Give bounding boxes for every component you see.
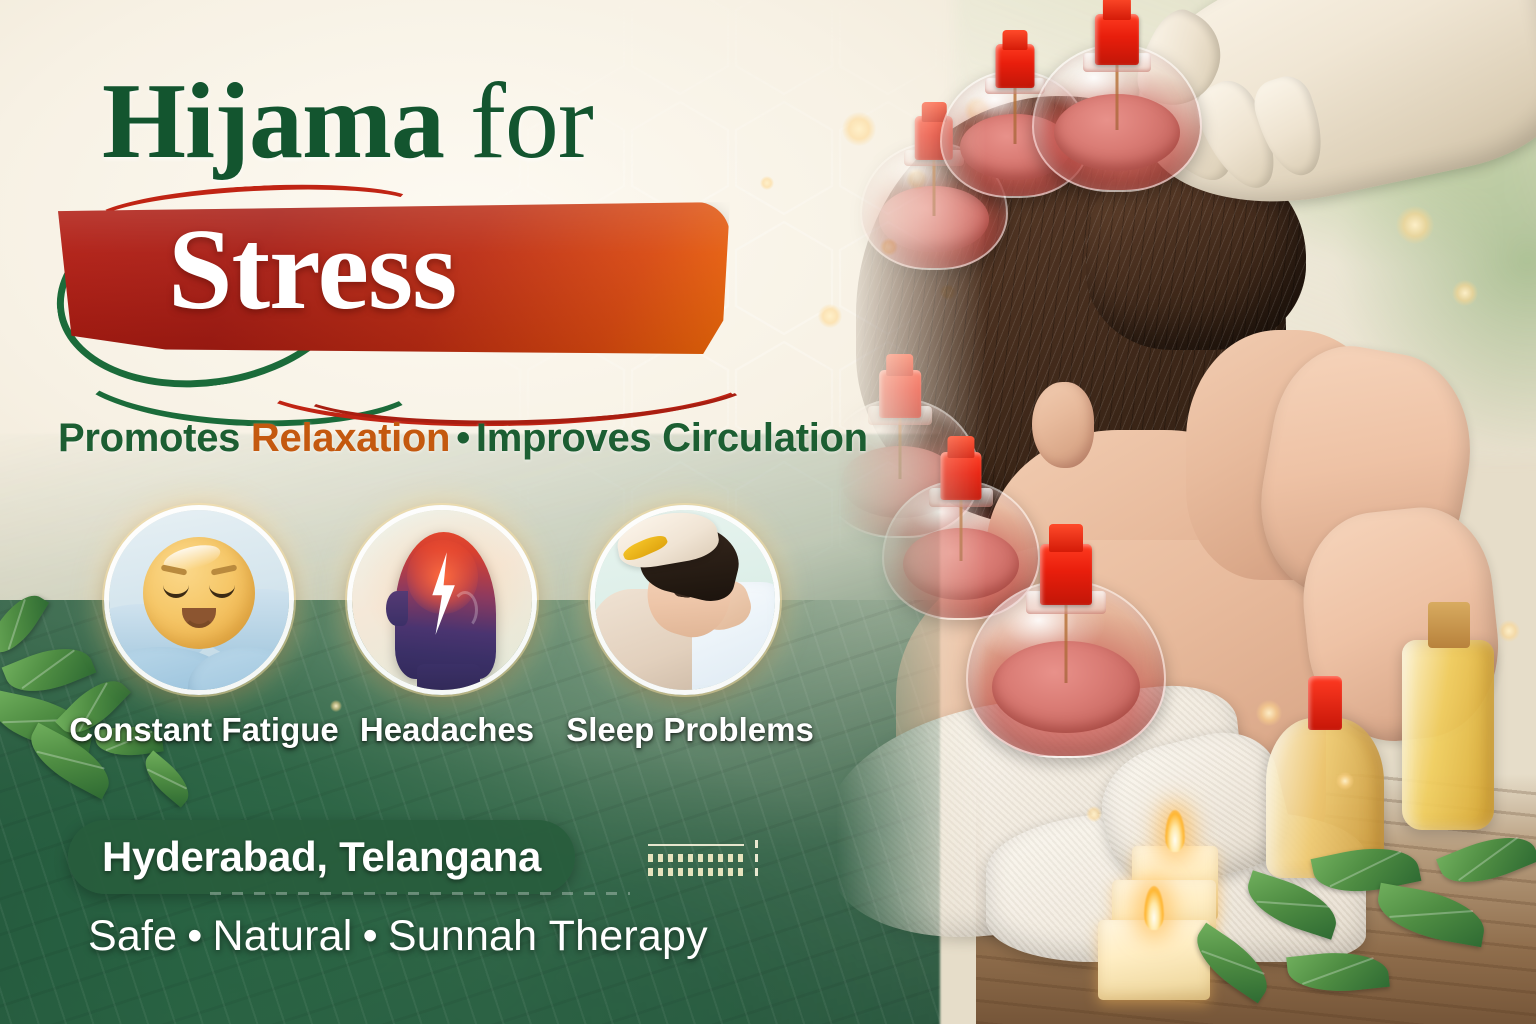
- footer-item-safe: Safe: [88, 912, 177, 960]
- massage-oil-bottle-large: [1402, 640, 1494, 830]
- tired-face-icon: [109, 510, 289, 690]
- headache-head-icon: [352, 510, 532, 690]
- tagline: Promotes Relaxation•Improves Circulation: [58, 416, 868, 460]
- symptoms-list: Constant Fatigue Headaches: [104, 505, 864, 775]
- leaf-decor: [1436, 823, 1536, 896]
- footer-separator: •: [177, 912, 212, 960]
- oil-bottle-cork-cap: [1428, 602, 1470, 648]
- head-silhouette: [395, 532, 496, 680]
- footer-item-natural: Natural: [213, 912, 353, 960]
- title-for: for: [444, 62, 593, 181]
- tagline-highlight: Relaxation: [251, 416, 450, 460]
- logo-title-block: Hijama for Stress: [50, 60, 780, 400]
- title-hijama: Hijama: [102, 62, 444, 181]
- symptom-label: Headaches: [360, 711, 534, 749]
- footer-tagline: Safe•Natural•Sunnah Therapy: [88, 912, 708, 961]
- pill-underline-dashes: [210, 892, 630, 895]
- tagline-part2: Improves Circulation: [476, 416, 868, 460]
- location-text: Hyderabad, Telangana: [102, 833, 541, 881]
- sleeping-woman-icon: [595, 510, 775, 690]
- spa-candle-front: [1098, 920, 1210, 1000]
- symptom-icon-circle: [104, 505, 294, 695]
- hijama-cupping-therapy-photo: [836, 0, 1536, 1024]
- leaf-decor: [1373, 883, 1489, 947]
- client-ear: [1032, 382, 1094, 468]
- symptom-icon-circle: [590, 505, 780, 695]
- symptom-item-sleep[interactable]: Sleep Problems: [590, 505, 790, 695]
- page-title-main: Stress: [168, 212, 456, 328]
- location-badge[interactable]: Hyderabad, Telangana: [68, 820, 575, 894]
- tagline-part1: Promotes: [58, 416, 251, 460]
- page-title-top: Hijama for: [102, 68, 593, 176]
- promotional-banner: Hijama for Stress Promotes Relaxation•Im…: [0, 0, 1536, 1024]
- tired-face: [143, 537, 255, 649]
- dashed-divider-ornament: [648, 838, 752, 884]
- symptom-icon-circle: [347, 505, 537, 695]
- tagline-separator: •: [450, 416, 476, 460]
- footer-item-sunnah: Sunnah Therapy: [388, 912, 708, 960]
- cupping-cup-head-right: [1032, 44, 1202, 192]
- symptom-item-headaches[interactable]: Headaches: [347, 505, 547, 695]
- title-ribbon-wrap: Stress: [50, 190, 750, 400]
- oil-bottle-red-cap: [1308, 676, 1342, 730]
- footer-separator: •: [353, 912, 388, 960]
- symptom-item-fatigue[interactable]: Constant Fatigue: [104, 505, 304, 695]
- symptom-label: Sleep Problems: [566, 711, 814, 749]
- symptom-label: Constant Fatigue: [69, 711, 339, 749]
- cupping-cup-shoulder-lower: [966, 580, 1166, 758]
